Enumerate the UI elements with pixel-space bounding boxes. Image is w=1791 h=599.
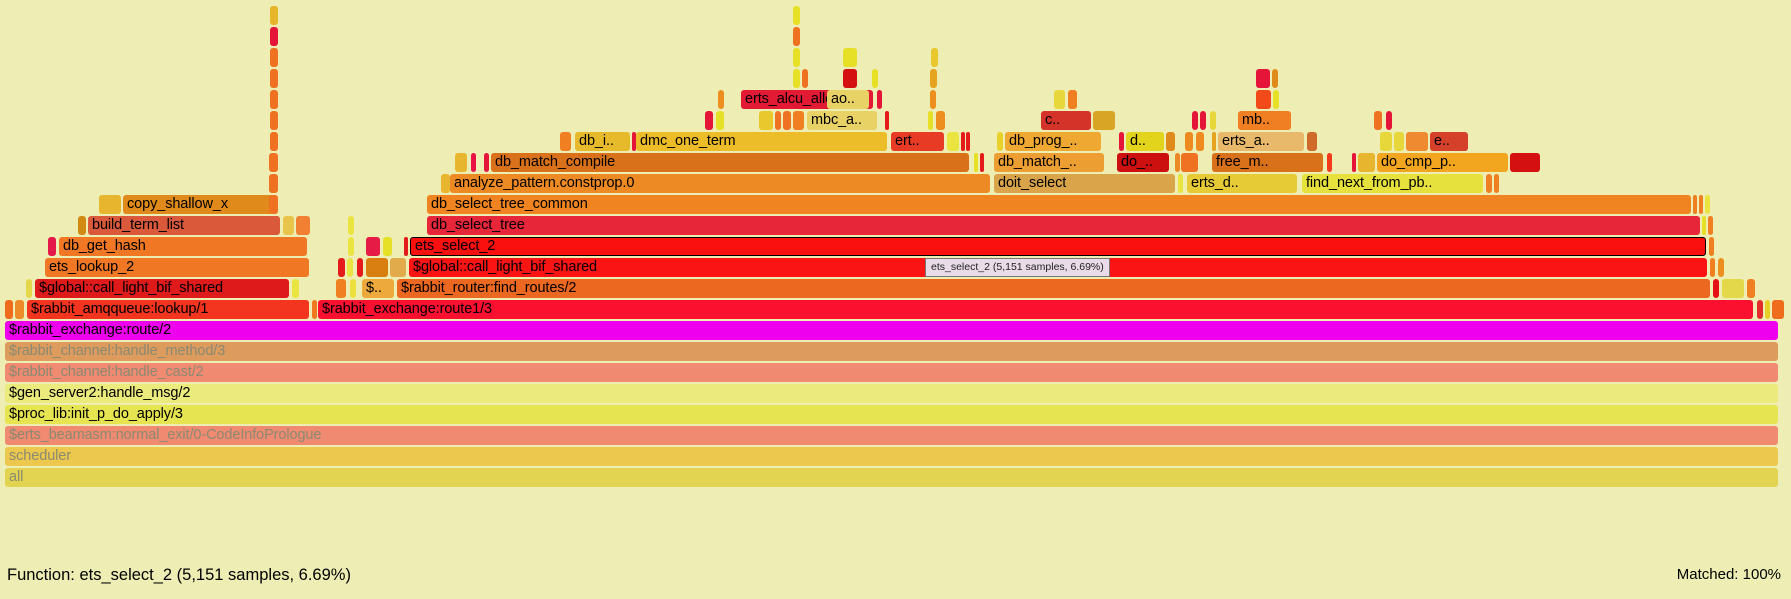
flame-frame-proc-lib-init-p-do-apply-3[interactable]: $proc_lib:init_p_do_apply/3: [5, 405, 1778, 424]
flame-frame-label: $rabbit_router:find_routes/2: [401, 280, 576, 296]
flame-frame-label: db_get_hash: [63, 238, 146, 254]
flame-frame[interactable]: [843, 48, 857, 67]
flame-frame[interactable]: [705, 111, 713, 130]
flame-frame[interactable]: [292, 279, 299, 298]
flame-frame[interactable]: [5, 300, 13, 319]
flame-frame[interactable]: [1256, 69, 1270, 88]
flame-frame[interactable]: [270, 69, 278, 88]
flame-frame[interactable]: [1710, 258, 1715, 277]
flame-frame[interactable]: [1702, 216, 1706, 235]
flame-frame-label: $rabbit_amqqueue:lookup/1: [31, 301, 208, 317]
flame-frame-label: db_match_compile: [495, 154, 615, 170]
flame-frame-label: $global::call_light_bif_shared: [413, 259, 597, 275]
flame-frame-label: erts_a..: [1222, 133, 1270, 149]
flame-frame-gen-server2-handle-msg-2[interactable]: $gen_server2:handle_msg/2: [5, 384, 1778, 403]
flame-frame[interactable]: [560, 132, 571, 151]
flame-frame[interactable]: [759, 111, 773, 130]
flame-frame[interactable]: [1210, 111, 1216, 130]
flame-frame[interactable]: [1713, 279, 1719, 298]
flame-frame[interactable]: [885, 111, 889, 130]
flame-frame[interactable]: [48, 237, 56, 256]
flame-frame-doit-select[interactable]: doit_select: [994, 174, 1175, 193]
flame-frame-dmc-one-term[interactable]: dmc_one_term: [636, 132, 887, 151]
flame-frame-label: $proc_lib:init_p_do_apply/3: [9, 406, 183, 422]
flame-frame[interactable]: [980, 153, 984, 172]
flame-frame[interactable]: [1192, 111, 1198, 130]
flame-frame[interactable]: [1386, 111, 1392, 130]
matched-percent-label: Matched: 100%: [1677, 566, 1781, 583]
flame-frame[interactable]: [1166, 132, 1175, 151]
flame-frame[interactable]: [357, 258, 363, 277]
flame-frame[interactable]: [283, 216, 294, 235]
flame-frame-db-match[interactable]: db_match_..: [994, 153, 1104, 172]
flame-frame-label: e..: [1434, 133, 1450, 149]
flame-frame-do[interactable]: do_..: [1117, 153, 1169, 172]
flame-frame[interactable]: [843, 69, 857, 88]
flame-frame[interactable]: [1772, 300, 1784, 319]
flame-frame-label: db_prog_..: [1009, 133, 1077, 149]
flame-frame[interactable]: [1708, 216, 1713, 235]
flame-frame-rabbit-exchange-route1-3[interactable]: $rabbit_exchange:route1/3: [318, 300, 1753, 319]
flame-frame[interactable]: [348, 237, 354, 256]
flame-frame[interactable]: [1256, 90, 1271, 109]
flame-frame-d[interactable]: d..: [1126, 132, 1164, 151]
status-footer: Function: ets_select_2 (5,151 samples, 6…: [0, 560, 1791, 599]
flame-frame-find-next-from-pb[interactable]: find_next_from_pb..: [1302, 174, 1483, 193]
flame-frame[interactable]: [1394, 132, 1404, 151]
flame-frame[interactable]: [269, 153, 278, 172]
flame-frame-build-term-list[interactable]: build_term_list: [88, 216, 280, 235]
flame-frame[interactable]: [1510, 153, 1540, 172]
flame-frame-label: free_m..: [1216, 154, 1268, 170]
flame-frame[interactable]: [1765, 300, 1770, 319]
flame-frame-rabbit-channel-handle-cast-2[interactable]: $rabbit_channel:handle_cast/2: [5, 363, 1778, 382]
flame-frame[interactable]: [1722, 279, 1744, 298]
flame-frame[interactable]: [997, 132, 1003, 151]
flame-frame-mbc-a[interactable]: mbc_a..: [807, 111, 877, 130]
flame-frame[interactable]: [966, 132, 970, 151]
flame-frame-label: $..: [366, 280, 382, 296]
flame-frame[interactable]: [783, 111, 791, 130]
flame-frame-label: d..: [1130, 133, 1146, 149]
flame-frame[interactable]: [383, 237, 392, 256]
flame-frame[interactable]: [1705, 195, 1710, 214]
flame-frame[interactable]: [1200, 111, 1206, 130]
flame-frame[interactable]: [296, 216, 310, 235]
flame-frame-ets-select-2[interactable]: ets_select_2: [410, 237, 1706, 256]
flame-frame[interactable]: [455, 153, 467, 172]
flame-frame-ao[interactable]: ao..: [827, 90, 869, 109]
flame-frame-do-cmp-p[interactable]: do_cmp_p..: [1377, 153, 1508, 172]
flame-frame-erts-beamasm-normal-exit-0-codeinfoprologue[interactable]: $erts_beamasm:normal_exit/0-CodeInfoProl…: [5, 426, 1778, 445]
flame-frame-c[interactable]: c..: [1041, 111, 1091, 130]
flame-frame-label: doit_select: [998, 175, 1066, 191]
flame-frame[interactable]: [930, 90, 936, 109]
flame-frame-db-get-hash[interactable]: db_get_hash: [59, 237, 307, 256]
flame-frame-label: db_select_tree_common: [431, 196, 588, 212]
flame-graph-canvas[interactable]: allscheduler$erts_beamasm:normal_exit/0-…: [0, 0, 1791, 599]
flame-frame-erts-d[interactable]: erts_d..: [1187, 174, 1297, 193]
flame-frame[interactable]: [1494, 174, 1499, 193]
flame-frame[interactable]: [366, 237, 380, 256]
flame-frame[interactable]: [26, 279, 32, 298]
flame-frame-label: $rabbit_exchange:route/2: [9, 322, 171, 338]
flame-frame-label: scheduler: [9, 448, 71, 464]
flame-frame[interactable]: [928, 111, 933, 130]
flame-frame[interactable]: [1196, 132, 1204, 151]
flame-frame-label: dmc_one_term: [640, 133, 736, 149]
flame-frame[interactable]: [936, 111, 945, 130]
flame-frame[interactable]: [793, 27, 800, 46]
flame-frame-label: db_select_tree: [431, 217, 525, 233]
flame-frame-label: $global::call_light_bif_shared: [39, 280, 223, 296]
flame-frame[interactable]: [1273, 90, 1279, 109]
flame-frame-free-m[interactable]: free_m..: [1212, 153, 1323, 172]
flame-frame[interactable]: [270, 48, 278, 67]
flame-frame[interactable]: [872, 69, 878, 88]
flame-frame[interactable]: [441, 174, 450, 193]
flame-frame-label: do_cmp_p..: [1381, 154, 1456, 170]
flame-frame-label: all: [9, 469, 23, 485]
flame-frame[interactable]: [793, 6, 800, 25]
flame-frame[interactable]: [1380, 132, 1392, 151]
flame-frame-label: copy_shallow_x: [127, 196, 228, 212]
flame-frame[interactable]: [1358, 153, 1375, 172]
flame-frame[interactable]: [718, 90, 724, 109]
flame-frame[interactable]: [930, 69, 937, 88]
flame-frame-label: do_..: [1121, 154, 1153, 170]
flame-frame-[interactable]: $..: [362, 279, 394, 298]
flame-frame-e[interactable]: e..: [1430, 132, 1468, 151]
flame-frame[interactable]: [78, 216, 86, 235]
flame-frame-label: ao..: [831, 91, 855, 107]
flame-frame[interactable]: [1352, 153, 1356, 172]
flame-frame-label: $rabbit_exchange:route1/3: [322, 301, 492, 317]
flame-frame-analyze-pattern-constprop-0[interactable]: analyze_pattern.constprop.0: [450, 174, 990, 193]
flame-frame[interactable]: [793, 111, 804, 130]
flame-frame-db-i[interactable]: db_i..: [575, 132, 630, 151]
flame-frame[interactable]: [1709, 237, 1714, 256]
flame-frame[interactable]: [99, 195, 121, 214]
flame-frame-label: find_next_from_pb..: [1306, 175, 1432, 191]
flame-frame-ert[interactable]: ert..: [891, 132, 944, 151]
flame-frame-label: db_i..: [579, 133, 614, 149]
flame-frame[interactable]: [471, 153, 476, 172]
flame-frame[interactable]: [270, 6, 278, 25]
flame-frame[interactable]: [1718, 258, 1724, 277]
flame-frame-label: ets_lookup_2: [49, 259, 134, 275]
flame-frame[interactable]: [270, 27, 278, 46]
flame-frame-label: $rabbit_channel:handle_cast/2: [9, 364, 204, 380]
flame-frame[interactable]: [1212, 132, 1216, 151]
flame-frame[interactable]: [1374, 111, 1382, 130]
frame-tooltip: ets_select_2 (5,151 samples, 6.69%): [925, 258, 1110, 277]
flame-frame[interactable]: [1747, 279, 1755, 298]
flame-frame[interactable]: [1486, 174, 1492, 193]
flame-frame[interactable]: [1119, 132, 1124, 151]
flame-frame-label: $gen_server2:handle_msg/2: [9, 385, 190, 401]
flame-frame[interactable]: [350, 279, 356, 298]
flame-frame[interactable]: [1327, 153, 1332, 172]
flame-frame[interactable]: [793, 69, 800, 88]
selected-function-label: Function: ets_select_2 (5,151 samples, 6…: [7, 566, 351, 585]
flame-frame-all[interactable]: all: [5, 468, 1778, 487]
flame-frame[interactable]: [270, 111, 278, 130]
flame-frame-label: erts_d..: [1191, 175, 1239, 191]
flame-frame-rabbit-router-find-routes-2[interactable]: $rabbit_router:find_routes/2: [397, 279, 1710, 298]
flame-frame-label: c..: [1045, 112, 1060, 128]
flame-frame-mb[interactable]: mb..: [1238, 111, 1291, 130]
flame-frame[interactable]: [931, 48, 938, 67]
flame-frame[interactable]: [366, 258, 388, 277]
flame-frame-db-select-tree[interactable]: db_select_tree: [427, 216, 1700, 235]
flame-frame[interactable]: [312, 300, 317, 319]
flame-frame-db-prog[interactable]: db_prog_..: [1005, 132, 1101, 151]
flame-frame[interactable]: [270, 132, 278, 151]
flame-frame[interactable]: [1272, 69, 1278, 88]
flame-frame[interactable]: [269, 174, 278, 193]
flame-frame[interactable]: [1693, 195, 1697, 214]
flame-frame-global-call-light-bif-shared[interactable]: $global::call_light_bif_shared: [35, 279, 289, 298]
flame-frame-copy-shallow-x[interactable]: copy_shallow_x: [123, 195, 278, 214]
flame-frame-label: $erts_beamasm:normal_exit/0-CodeInfoProl…: [9, 427, 321, 443]
flame-frame[interactable]: [1757, 300, 1763, 319]
flame-frame-label: mb..: [1242, 112, 1270, 128]
flame-frame[interactable]: [716, 111, 724, 130]
flame-frame[interactable]: [15, 300, 24, 319]
flame-frame[interactable]: [1406, 132, 1428, 151]
flame-frame-db-select-tree-common[interactable]: db_select_tree_common: [427, 195, 1691, 214]
flame-frame-scheduler[interactable]: scheduler: [5, 447, 1778, 466]
flame-frame-erts-a[interactable]: erts_a..: [1218, 132, 1304, 151]
flame-frame-label: db_match_..: [998, 154, 1077, 170]
flame-frame-ets-lookup-2[interactable]: ets_lookup_2: [45, 258, 309, 277]
flame-frame-rabbit-amqqueue-lookup-1[interactable]: $rabbit_amqqueue:lookup/1: [27, 300, 309, 319]
flame-frame[interactable]: [348, 216, 354, 235]
flame-frame[interactable]: [1175, 153, 1180, 172]
flame-frame[interactable]: [404, 237, 408, 256]
flame-frame[interactable]: [270, 90, 278, 109]
flame-frame[interactable]: [1307, 132, 1317, 151]
flame-frame[interactable]: [961, 132, 965, 151]
flame-frame-rabbit-channel-handle-method-3[interactable]: $rabbit_channel:handle_method/3: [5, 342, 1778, 361]
flame-frame[interactable]: [1699, 195, 1703, 214]
flame-frame[interactable]: [338, 258, 345, 277]
flame-frame-label: analyze_pattern.constprop.0: [454, 175, 634, 191]
flame-frame-label: ert..: [895, 133, 919, 149]
flame-frame[interactable]: [1185, 132, 1193, 151]
flame-frame[interactable]: [1054, 90, 1065, 109]
flame-frame[interactable]: [336, 279, 346, 298]
flame-frame[interactable]: [974, 153, 978, 172]
flame-frame[interactable]: [877, 90, 882, 109]
flame-frame-label: mbc_a..: [811, 112, 862, 128]
flame-frame[interactable]: [802, 69, 808, 88]
flame-frame[interactable]: [1178, 174, 1183, 193]
flame-frame[interactable]: [1093, 111, 1115, 130]
flame-frame[interactable]: [1181, 153, 1198, 172]
flame-frame[interactable]: [793, 48, 800, 67]
flame-frame-label: ets_select_2: [415, 238, 495, 254]
flame-frame[interactable]: [1068, 90, 1077, 109]
flame-frame[interactable]: [947, 132, 959, 151]
flame-frame-db-match-compile[interactable]: db_match_compile: [491, 153, 969, 172]
flame-frame[interactable]: [269, 195, 278, 214]
flame-frame-label: build_term_list: [92, 217, 184, 233]
flame-frame[interactable]: [390, 258, 406, 277]
flame-frame-label: $rabbit_channel:handle_method/3: [9, 343, 225, 359]
flame-frame-rabbit-exchange-route-2[interactable]: $rabbit_exchange:route/2: [5, 321, 1778, 340]
flame-frame[interactable]: [347, 258, 353, 277]
flame-frame[interactable]: [775, 111, 781, 130]
flame-frame[interactable]: [484, 153, 489, 172]
